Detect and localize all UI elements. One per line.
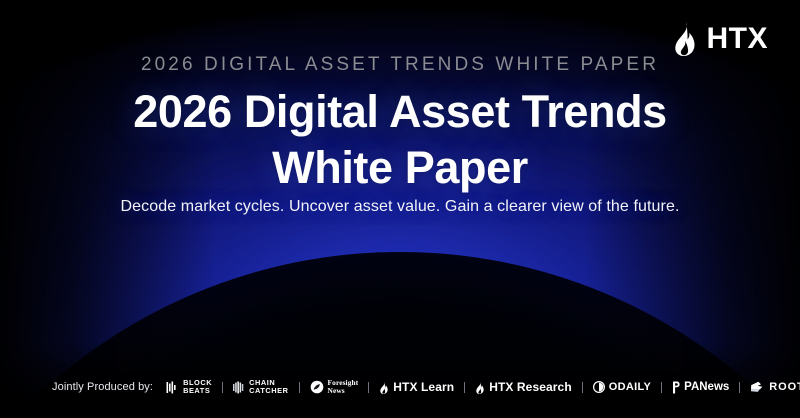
hero-title: 2026 Digital Asset Trends White Paper (0, 84, 800, 197)
partner-wordmark: CHAIN CATCHER (249, 379, 288, 396)
partner-wordmark: HTX Learn (393, 380, 454, 394)
partner-logo-chaincatcher[interactable]: CHAIN CATCHER (233, 379, 288, 396)
htx-flame-icon (475, 381, 485, 394)
partner-wordmark: Foresight News (328, 379, 359, 396)
partner-logo-blockbeats[interactable]: BLOCK BEATS (166, 379, 212, 396)
partner-logo-htx-research[interactable]: HTX Research (475, 380, 572, 394)
circle-arrow-icon (310, 380, 324, 394)
hero-eyebrow: 2026 DIGITAL ASSET TRENDS WHITE PAPER (0, 54, 800, 76)
logo-divider (739, 382, 740, 393)
partner-wordmark: PANews (684, 381, 729, 393)
hero-title-line-1: 2026 Digital Asset Trends (133, 86, 667, 137)
hero-title-line-2: White Paper (0, 140, 800, 196)
partner-wordmark: ROOTDATA (769, 381, 800, 393)
partner-logo-foresight-news[interactable]: Foresight News (310, 379, 359, 396)
pan-mark-icon (672, 381, 680, 394)
partner-wordmark-line-2: News (328, 387, 359, 396)
htx-brand-wordmark: HTX (707, 24, 769, 54)
half-circle-icon (593, 381, 605, 393)
logo-divider (661, 382, 662, 393)
partner-wordmark: BLOCK BEATS (183, 379, 212, 396)
logo-divider (464, 382, 465, 393)
root-shard-icon (750, 381, 765, 393)
logo-divider (299, 382, 300, 393)
hero-subtitle: Decode market cycles. Uncover asset valu… (0, 198, 800, 216)
partner-logo-htx-learn[interactable]: HTX Learn (379, 380, 454, 394)
chain-bars-icon (233, 381, 245, 394)
partner-wordmark-line-2: BEATS (183, 387, 212, 395)
partner-wordmark: ODAILY (609, 381, 651, 393)
banner-content: HTX 2026 DIGITAL ASSET TRENDS WHITE PAPE… (0, 0, 800, 418)
htx-brand-logo: HTX (672, 22, 769, 56)
partner-wordmark-line-2: CATCHER (249, 387, 288, 395)
partner-logo-panews[interactable]: PANews (672, 381, 729, 394)
partner-wordmark: HTX Research (489, 380, 572, 394)
jointly-produced-by-label: Jointly Produced by: (52, 381, 153, 393)
htx-flame-icon (672, 22, 698, 56)
partner-logo-strip: Jointly Produced by: BLOCK BEATS (0, 379, 800, 396)
bars-icon (166, 381, 179, 394)
logo-divider (222, 382, 223, 393)
hero-banner: HTX 2026 DIGITAL ASSET TRENDS WHITE PAPE… (0, 0, 800, 418)
logo-divider (368, 382, 369, 393)
logo-divider (582, 382, 583, 393)
partner-logo-rootdata[interactable]: ROOTDATA (750, 381, 800, 393)
partner-logo-odaily[interactable]: ODAILY (593, 381, 651, 393)
htx-flame-icon (379, 381, 389, 394)
